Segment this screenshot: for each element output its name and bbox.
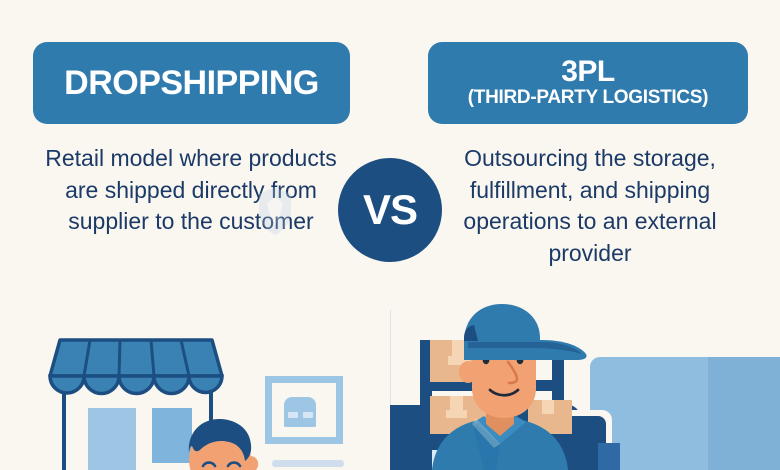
shopkeeper-head — [189, 419, 258, 470]
badge-3pl-title: 3PL — [561, 57, 615, 87]
description-3pl: Outsourcing the storage, fulfillment, an… — [437, 143, 743, 270]
infographic-canvas: DROPSHIPPING 3PL (THIRD-PARTY LOGISTICS)… — [0, 0, 780, 470]
vs-badge: VS — [338, 158, 442, 262]
badge-3pl: 3PL (THIRD-PARTY LOGISTICS) — [428, 42, 748, 124]
badge-dropshipping: DROPSHIPPING — [33, 42, 350, 124]
description-dropshipping: Retail model where products are shipped … — [38, 143, 344, 238]
illustration-warehouse — [390, 300, 780, 470]
vs-label: VS — [363, 186, 417, 234]
badge-dropshipping-title: DROPSHIPPING — [64, 66, 319, 101]
illustration-storefront — [0, 300, 390, 470]
badge-3pl-subtitle: (THIRD-PARTY LOGISTICS) — [468, 88, 708, 108]
